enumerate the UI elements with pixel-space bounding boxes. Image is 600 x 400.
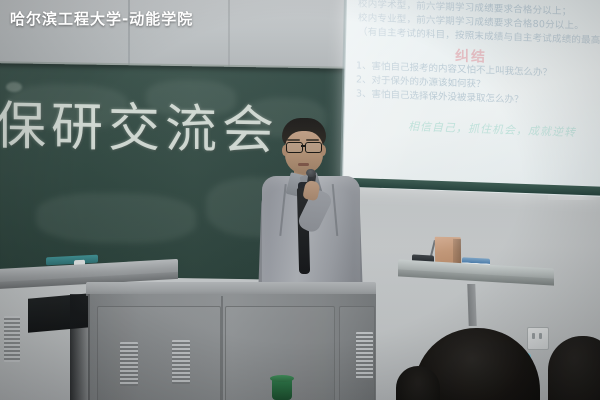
podium-side-shadow [70,294,90,400]
socket-slot [532,333,535,339]
eyeglasses-lens-right [305,142,322,153]
right-table-leg [467,284,476,326]
podium-vent [120,342,138,386]
podium-vent [4,316,20,362]
eyeglasses-bridge [301,145,305,147]
watermark-text: 哈尔滨工程大学-动能学院 [10,8,193,29]
wall-power-socket [527,327,549,350]
podium-vent [172,340,190,384]
podium-vent [356,332,373,380]
eyeglasses-lens-left [286,142,303,153]
speaker-mouth [298,163,309,166]
socket-slot [539,333,542,339]
speaker-eyebrow [306,139,319,141]
classroom-presentation-photo: 保研交流会 校内学术型，前六学期学习成绩要求合格分以上；校内专业型，前六学期学习… [0,0,600,400]
speaker-eyebrow [287,139,300,141]
wall-panel-seam [228,0,230,70]
speaker-person [258,118,366,290]
chalk-mark [6,82,22,92]
blackboard-chalk-text: 保研交流会 [0,100,284,157]
podium-door [97,306,221,400]
green-cup-lid [270,375,294,382]
podium-seam [221,296,223,400]
